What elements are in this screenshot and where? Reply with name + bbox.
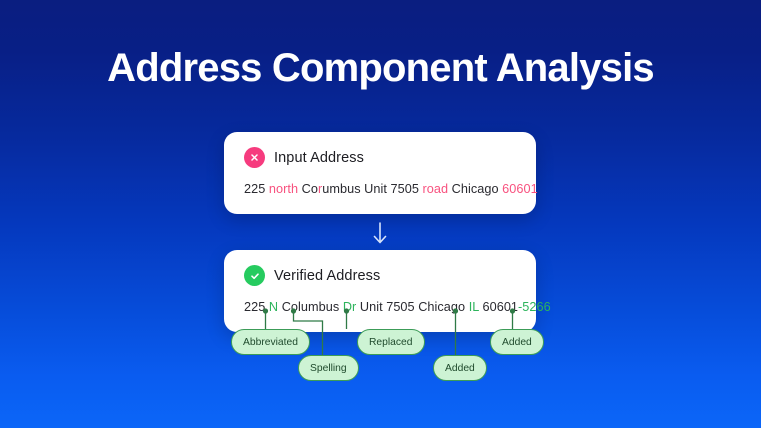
address-segment: 60601: [479, 300, 518, 314]
address-segment: IL: [469, 300, 479, 314]
input-address-card: Input Address 225 north Corumbus Unit 75…: [224, 132, 536, 214]
annotation-pill-spelling[interactable]: Spelling: [298, 355, 359, 381]
input-card-header: Input Address: [244, 147, 364, 168]
address-segment: 225: [244, 182, 269, 196]
address-segment: Chicago: [448, 182, 502, 196]
address-segment: Dr: [343, 300, 357, 314]
address-segment: -5266: [518, 300, 551, 314]
verified-address-text: 225 N Columbus Dr Unit 7505 Chicago IL 6…: [244, 300, 551, 314]
verified-card-header: Verified Address: [244, 265, 380, 286]
input-card-title: Input Address: [274, 150, 364, 166]
address-segment: umbus Unit 7505: [322, 182, 422, 196]
page-title: Address Component Analysis: [0, 44, 761, 92]
circle-x-icon: [244, 147, 265, 168]
annotation-pill-replaced[interactable]: Replaced: [357, 329, 425, 355]
annotation-pill-abbreviated[interactable]: Abbreviated: [231, 329, 310, 355]
address-segment: Co: [298, 182, 318, 196]
address-segment: north: [269, 182, 298, 196]
verified-card-title: Verified Address: [274, 268, 380, 284]
annotation-pill-added-state[interactable]: Added: [433, 355, 487, 381]
address-segment: 60601: [502, 182, 538, 196]
address-segment: road: [423, 182, 449, 196]
address-segment: 225: [244, 300, 269, 314]
slide-canvas: Address Component Analysis Input Address…: [0, 0, 761, 428]
address-segment: N: [269, 300, 278, 314]
annotation-pill-added-zip4[interactable]: Added: [490, 329, 544, 355]
arrow-down-icon: [371, 222, 389, 246]
address-segment: Unit 7505 Chicago: [356, 300, 468, 314]
input-address-text: 225 north Corumbus Unit 7505 road Chicag…: [244, 182, 538, 196]
address-segment: Co: [278, 300, 298, 314]
circle-check-icon: [244, 265, 265, 286]
verified-address-card: Verified Address 225 N Columbus Dr Unit …: [224, 250, 536, 332]
address-segment: umbus: [301, 300, 343, 314]
